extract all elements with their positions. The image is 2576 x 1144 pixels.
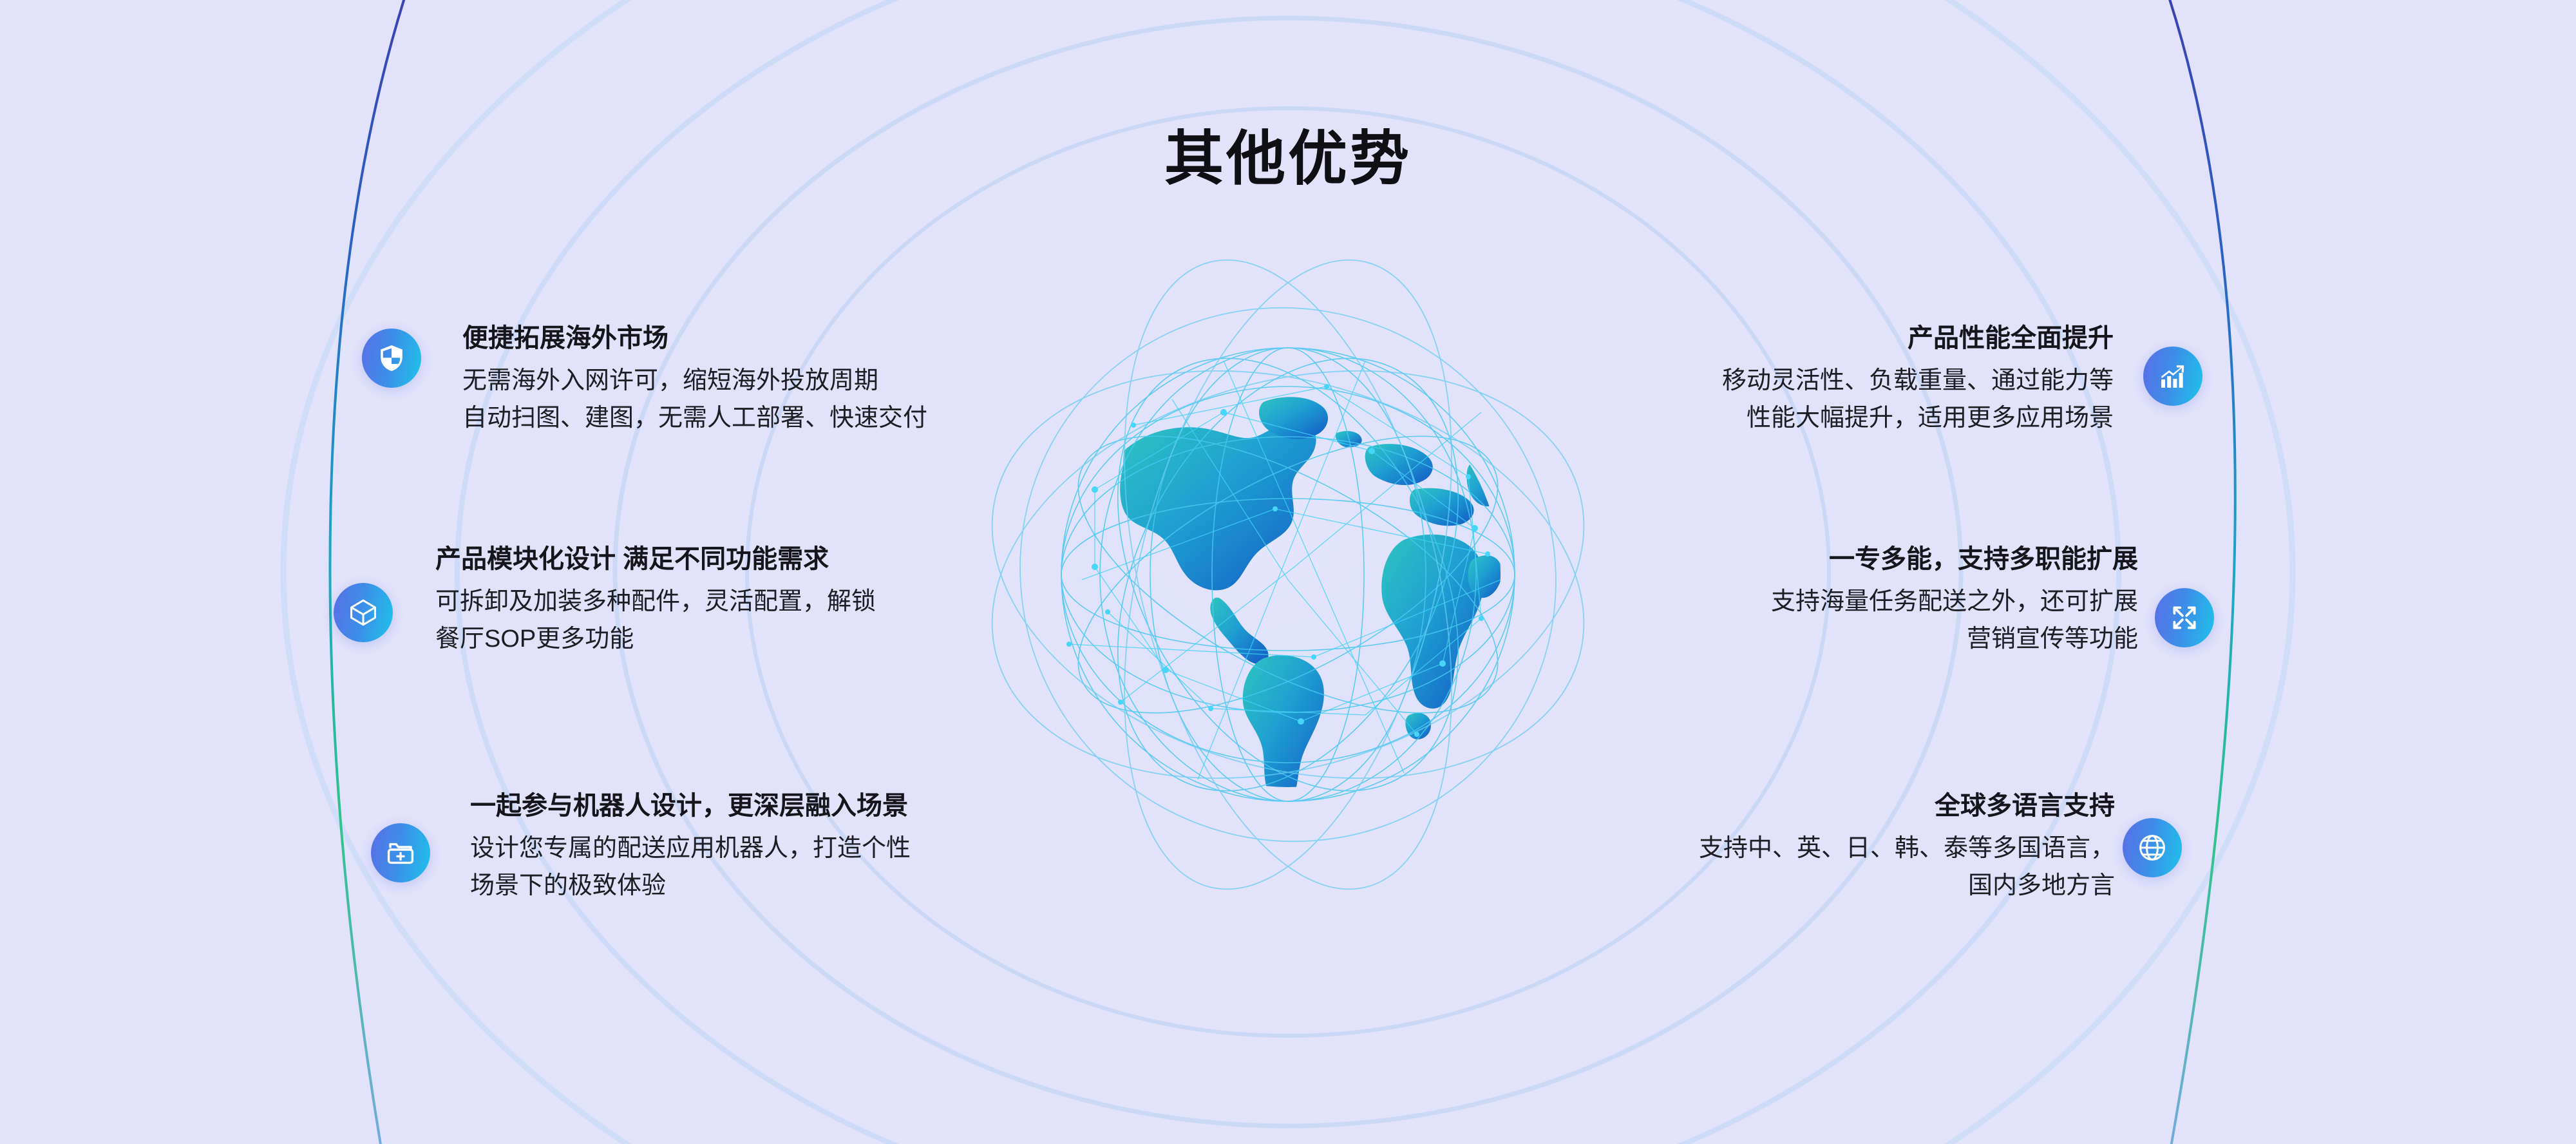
feature-line: 性能大幅提升，适用更多应用场景 <box>1722 400 2114 437</box>
feature-line: 营销宣传等功能 <box>1771 621 2138 658</box>
feature-block-right-2: 一专多能，支持多职能扩展 支持海量任务配送之外，还可扩展 营销宣传等功能 <box>1771 544 2138 658</box>
feature-line: 支持中、英、日、韩、泰等多国语言， <box>1699 830 2115 868</box>
shield-icon <box>376 343 407 374</box>
feature-line: 支持海量任务配送之外，还可扩展 <box>1771 584 2138 621</box>
feature-line: 餐厅SOP更多功能 <box>435 621 876 658</box>
feature-title: 一专多能，支持多职能扩展 <box>1771 544 2138 575</box>
icon-bubble-growth-chart[interactable] <box>2143 347 2202 406</box>
feature-block-right-3: 全球多语言支持 支持中、英、日、韩、泰等多国语言， 国内多地方言 <box>1699 791 2115 905</box>
advantages-section: 其他优势 <box>0 0 2576 1144</box>
icon-bubble-shield[interactable] <box>362 329 421 388</box>
feature-block-left-1: 便捷拓展海外市场 无需海外入网许可，缩短海外投放周期 自动扫图、建图，无需人工部… <box>462 323 927 437</box>
icon-bubble-cube[interactable] <box>334 583 393 642</box>
globe-icon <box>2137 832 2168 863</box>
cube-icon <box>348 597 379 628</box>
feature-block-right-1: 产品性能全面提升 移动灵活性、负载重量、通过能力等 性能大幅提升，适用更多应用场… <box>1722 323 2114 437</box>
feature-line: 可拆卸及加装多种配件，灵活配置，解锁 <box>435 584 876 621</box>
feature-title: 产品模块化设计 满足不同功能需求 <box>435 544 876 575</box>
icon-bubble-folder-plus[interactable] <box>371 823 430 882</box>
growth-chart-icon <box>2157 361 2188 392</box>
feature-line: 场景下的极致体验 <box>470 868 911 905</box>
expand-arrows-icon <box>2169 602 2200 633</box>
feature-line: 自动扫图、建图，无需人工部署、快速交付 <box>462 400 927 437</box>
feature-block-left-3: 一起参与机器人设计，更深层融入场景 设计您专属的配送应用机器人，打造个性 场景下… <box>470 791 911 905</box>
icon-bubble-globe[interactable] <box>2123 818 2182 877</box>
feature-line: 国内多地方言 <box>1699 868 2115 905</box>
icon-bubble-expand-arrows[interactable] <box>2155 588 2214 647</box>
feature-title: 产品性能全面提升 <box>1722 323 2114 354</box>
feature-title: 一起参与机器人设计，更深层融入场景 <box>470 791 911 821</box>
folder-plus-icon <box>385 837 416 868</box>
feature-title: 便捷拓展海外市场 <box>462 323 927 354</box>
page-title: 其他优势 <box>0 111 2576 196</box>
feature-line: 无需海外入网许可，缩短海外投放周期 <box>462 363 927 400</box>
feature-block-left-2: 产品模块化设计 满足不同功能需求 可拆卸及加装多种配件，灵活配置，解锁 餐厅SO… <box>435 544 876 658</box>
feature-line: 移动灵活性、负载重量、通过能力等 <box>1722 363 2114 400</box>
feature-line: 设计您专属的配送应用机器人，打造个性 <box>470 830 911 868</box>
feature-title: 全球多语言支持 <box>1699 791 2115 821</box>
